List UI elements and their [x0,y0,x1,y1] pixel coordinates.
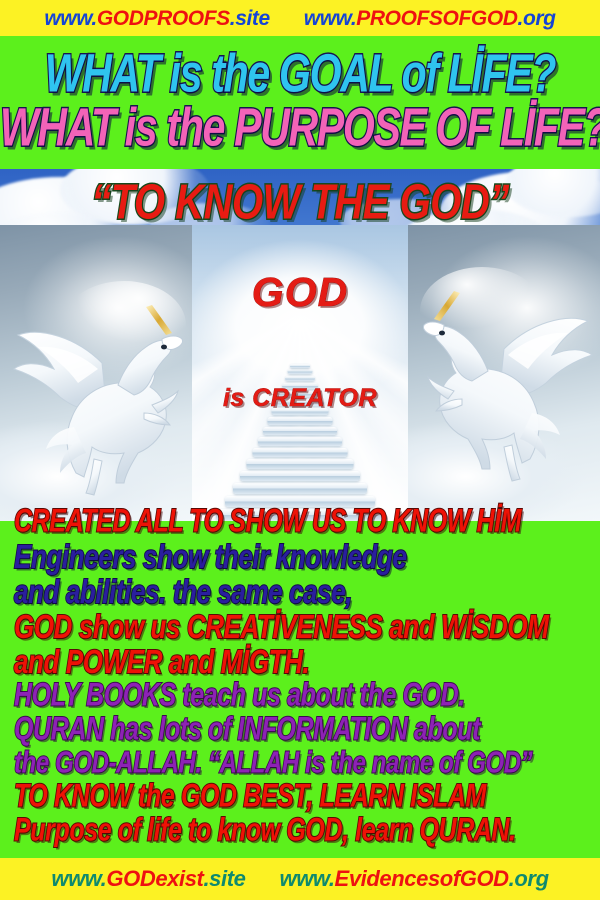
body-line: TO KNOW the GOD BEST, LEARN ISLAM [0,781,600,813]
winged-unicorn-mirrored-icon [414,263,600,495]
poster-root: www.GODPROOFS.site www.PROOFSOFGOD.org W… [0,0,600,900]
body-line: and abilities. the same case, [0,575,600,608]
body-line: and POWER and MİGTH. [0,645,600,678]
url-domain-name: GODexist [106,866,203,891]
url-www-prefix: www. [51,866,106,891]
body-line: Engineers show their knowledge [0,540,600,573]
url-www-prefix: www. [280,866,335,891]
winged-unicorn-icon [6,277,192,509]
headline-goal-of-life: WHAT is the GOAL of LİFE? [0,48,600,100]
body-line: the GOD-ALLAH. “ALLAH is the name of GOD… [0,748,600,779]
url-domain-name: PROOFSOFGOD [356,7,517,30]
panel-center-god: GOD is CREATOR [192,225,408,521]
body-line: GOD show us CREATİVENESS and WİSDOM [0,610,600,643]
url-www-prefix: www. [44,7,96,30]
url-tld-suffix: .site [230,7,270,30]
stairway-icon [215,346,385,521]
headline-to-know-the-god: “TO KNOW THE GOD” [0,178,600,227]
bottom-link-evidencesofgod[interactable]: www.EvidencesofGOD.org [280,868,549,890]
url-domain-name: EvidencesofGOD [335,866,509,891]
headline-purpose-of-life: WHAT is the PURPOSE OF LİFE? [0,102,600,154]
panel-left-unicorn [0,225,192,521]
top-link-godproofs[interactable]: www.GODPROOFS.site [44,8,269,29]
body-line: HOLY BOOKS teach us about the GOD. [0,680,600,712]
god-title: GOD [192,269,408,316]
top-banner: www.GODPROOFS.site www.PROOFSOFGOD.org [0,0,600,36]
god-subtitle: is CREATOR [192,384,408,413]
url-tld-suffix: .org [509,866,549,891]
body-line: CREATED ALL TO SHOW US TO KNOW HİM [0,506,600,538]
headline-block: WHAT is the GOAL of LİFE? WHAT is the PU… [0,36,600,169]
body-line: Purpose of life to know GOD, learn QURAN… [0,815,600,847]
url-www-prefix: www. [304,7,356,30]
bottom-link-godexist[interactable]: www.GODexist.site [51,868,245,890]
body-text-block: CREATED ALL TO SHOW US TO KNOW HİM Engin… [0,506,600,849]
url-domain-name: GODPROOFS [97,7,230,30]
top-link-proofsofgod[interactable]: www.PROOFSOFGOD.org [304,8,556,29]
bottom-banner: www.GODexist.site www.EvidencesofGOD.org [0,858,600,900]
body-line: QURAN has lots of INFORMATION about [0,714,600,746]
panel-right-unicorn [408,225,600,521]
url-tld-suffix: .site [203,866,245,891]
url-tld-suffix: .org [518,7,556,30]
